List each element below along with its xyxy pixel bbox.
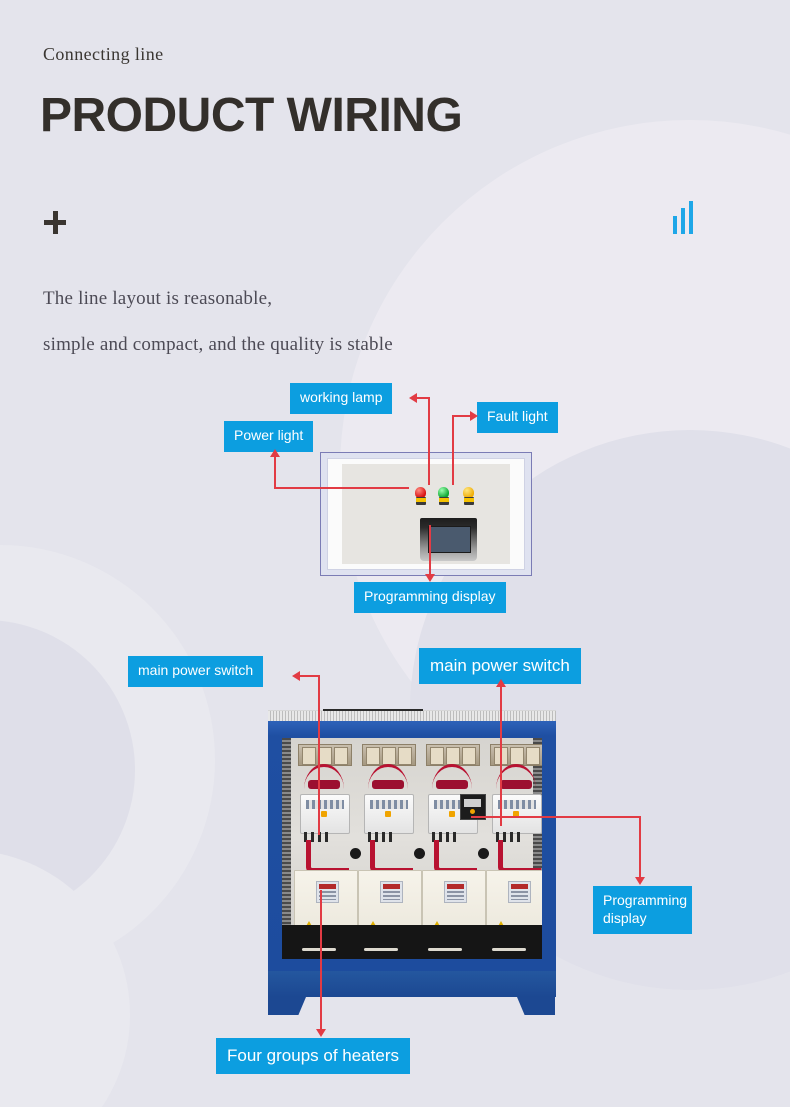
subtitle-line-1: The line layout is reasonable, — [43, 276, 393, 322]
label-programming-display-bottom[interactable]: Programming display — [593, 886, 692, 934]
output-wire-4 — [498, 840, 541, 873]
arrow-prog-display-bottom-head — [635, 877, 645, 885]
control-panel-illustration — [320, 452, 532, 576]
subtitle-block: The line layout is reasonable, simple an… — [43, 276, 393, 368]
arrow-prog-display-top-head — [425, 574, 435, 582]
ct-ring-4 — [500, 780, 532, 789]
cabinet-hole-2 — [414, 848, 425, 859]
cabinet-body — [268, 721, 556, 971]
output-wire-1 — [306, 840, 349, 873]
arrow-mps-right-head — [496, 679, 506, 687]
arrow-mps-left-head — [292, 671, 300, 681]
output-wire-3 — [434, 840, 477, 873]
terminal-block-4 — [490, 744, 542, 766]
label-main-power-switch-left[interactable]: main power switch — [128, 656, 263, 687]
arrow-working-lamp-v — [428, 397, 430, 485]
panel-face — [342, 464, 510, 564]
ct-ring-2 — [372, 780, 404, 789]
label-power-light[interactable]: Power light — [224, 421, 313, 452]
power-lamp-icon — [415, 487, 426, 505]
label-working-lamp[interactable]: working lamp — [290, 383, 392, 414]
ct-ring-3 — [436, 780, 468, 789]
ct-ring-1 — [308, 780, 340, 789]
cabinet-hole-1 — [350, 848, 361, 859]
plus-icon — [44, 211, 68, 235]
poster-page: Connecting line PRODUCT WIRING The line … — [0, 0, 790, 1107]
arrow-working-lamp-head — [409, 393, 417, 403]
arrow-power-light-head — [270, 449, 280, 457]
arrow-prog-display-top-v — [429, 525, 431, 575]
arrow-working-lamp-h — [416, 397, 429, 399]
electrical-cabinet-illustration — [259, 710, 564, 1015]
eyebrow-text: Connecting line — [43, 44, 163, 65]
arrow-mps-left-v — [318, 675, 320, 835]
terminal-block-1 — [298, 744, 352, 766]
label-four-groups-of-heaters[interactable]: Four groups of heaters — [216, 1038, 410, 1074]
terminal-block-3 — [426, 744, 480, 766]
working-lamp-icon — [438, 487, 449, 505]
label-fault-light[interactable]: Fault light — [477, 402, 558, 433]
subtitle-line-2: simple and compact, and the quality is s… — [43, 322, 393, 368]
cabinet-leg-right — [517, 997, 555, 1015]
bar-chart-icon — [673, 201, 697, 234]
arrow-fault-light-v — [452, 415, 454, 485]
arrow-prog-display-bottom-v — [639, 816, 641, 878]
arrow-fault-light-h — [452, 415, 471, 417]
arrow-heaters-v — [320, 890, 322, 1030]
cabinet-hole-3 — [478, 848, 489, 859]
arrow-prog-display-bottom-h — [471, 816, 640, 818]
arrow-heaters-head — [316, 1029, 326, 1037]
cabinet-leg-left — [268, 997, 306, 1015]
arrow-power-light-h — [274, 487, 409, 489]
page-title: PRODUCT WIRING — [40, 92, 462, 140]
circuit-breaker-2 — [364, 794, 414, 834]
label-programming-display-top[interactable]: Programming display — [354, 582, 506, 613]
fault-lamp-icon — [463, 487, 474, 505]
arrow-fault-light-head — [470, 411, 478, 421]
circuit-breaker-1 — [300, 794, 350, 834]
output-wire-2 — [370, 840, 413, 873]
arrow-mps-right-v — [500, 686, 502, 826]
cabinet-base — [268, 971, 556, 997]
arrow-mps-left-h — [299, 675, 319, 677]
arrow-power-light-v — [274, 456, 276, 488]
terminal-block-2 — [362, 744, 416, 766]
